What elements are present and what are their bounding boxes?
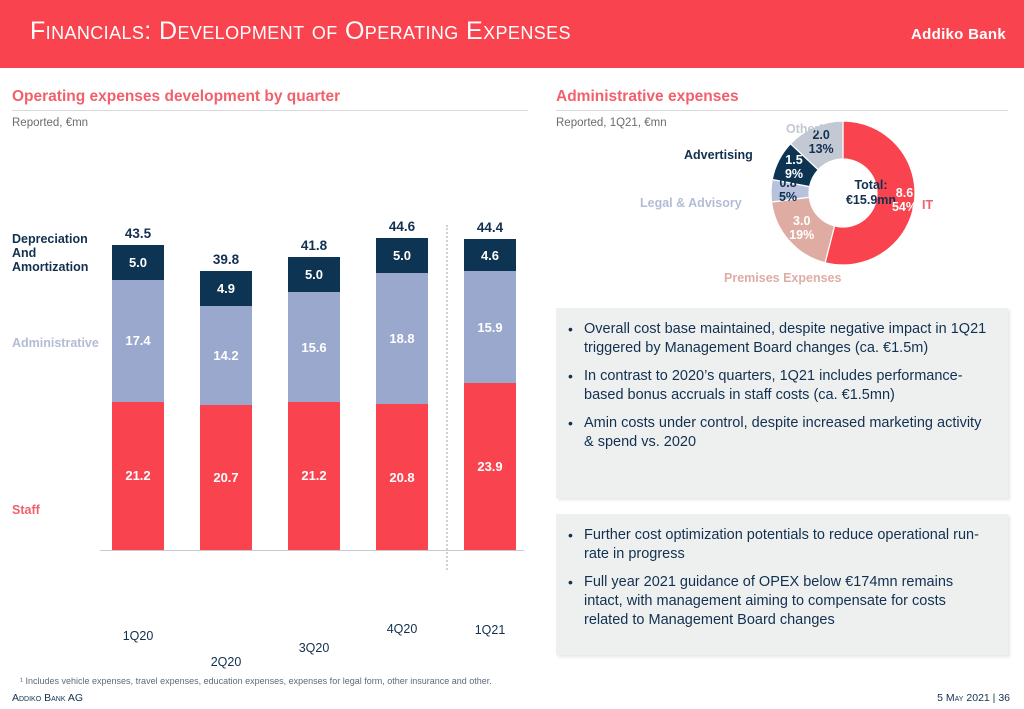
x-axis-label-2q20: 2Q20 xyxy=(200,655,252,669)
donut-slice-percent: 5% xyxy=(762,190,814,204)
list-item: • In contrast to 2020’s quarters, 1Q21 i… xyxy=(568,367,992,405)
left-section-title: Operating expenses development by quarte… xyxy=(12,88,528,110)
donut-value-label: 1.59% xyxy=(768,153,820,181)
bar-segment-depreciation: 5.0 xyxy=(376,238,428,273)
footer-company: Addiko Bank AG xyxy=(12,692,83,704)
list-item: • Amin costs under control, despite incr… xyxy=(568,414,992,452)
bullet-text: Further cost optimization potentials to … xyxy=(584,526,992,564)
donut-category-label-legal-advisory: Legal & Advisory xyxy=(640,196,742,210)
bullet-text: In contrast to 2020’s quarters, 1Q21 inc… xyxy=(584,367,992,405)
right-section-title: Administrative expenses xyxy=(556,88,1008,110)
bar-segment-administrative: 17.4 xyxy=(112,280,164,402)
bullet-icon: • xyxy=(568,573,584,630)
list-item: • Overall cost base maintained, despite … xyxy=(568,320,992,358)
bar-group-1q20: 5.017.421.243.51Q20 xyxy=(112,245,164,550)
bar-total-label: 43.5 xyxy=(112,226,164,241)
donut-slice-percent: 9% xyxy=(768,167,820,181)
bar-segment-staff: 21.2 xyxy=(288,402,340,550)
bar-segment-depreciation: 4.6 xyxy=(464,239,516,271)
bar-segment-staff: 23.9 xyxy=(464,383,516,550)
bar-segment-depreciation: 5.0 xyxy=(112,245,164,280)
bar-total-label: 41.8 xyxy=(288,238,340,253)
bar-total-label: 44.6 xyxy=(376,219,428,234)
x-axis-label-1q20: 1Q20 xyxy=(112,629,164,643)
bullet-text: Full year 2021 guidance of OPEX below €1… xyxy=(584,573,992,630)
slide: Financials: Development of Operating Exp… xyxy=(0,0,1024,709)
left-section-rule xyxy=(12,110,528,111)
bullet-icon: • xyxy=(568,367,584,405)
bullet-icon: • xyxy=(568,414,584,452)
footer-date-page: 5 May 2021 | 36 xyxy=(937,692,1010,704)
donut-chart: Total: €15.9mn 8.654%3.019%0.85%1.59%2.0… xyxy=(700,118,1000,293)
bar-segment-staff: 21.2 xyxy=(112,402,164,550)
x-axis-label-4q20: 4Q20 xyxy=(376,622,428,636)
donut-category-label-other: Other¹ xyxy=(786,122,824,136)
bar-total-label: 39.8 xyxy=(200,252,252,267)
bar-group-2q20: 4.914.220.739.82Q20 xyxy=(200,271,252,550)
bar-segment-administrative: 15.6 xyxy=(288,292,340,401)
legend-staff-label: Staff xyxy=(12,503,40,517)
donut-value-label: 3.019% xyxy=(776,214,828,242)
bar-segment-depreciation: 4.9 xyxy=(200,271,252,305)
bar-segment-administrative: 15.9 xyxy=(464,271,516,382)
donut-category-label-premises-expenses: Premises Expenses xyxy=(724,271,841,285)
bar-total-label: 44.4 xyxy=(464,220,516,235)
bar-group-1q21: 4.615.923.944.41Q21 xyxy=(464,239,516,550)
left-section-subtitle: Reported, €mn xyxy=(12,117,528,129)
commentary-box-2: • Further cost optimization potentials t… xyxy=(556,514,1008,655)
legend-administrative-label: Administrative xyxy=(12,336,99,350)
legend-depreciation-label: Depreciation And Amortization xyxy=(12,232,96,274)
list-item: • Full year 2021 guidance of OPEX below … xyxy=(568,573,992,630)
x-axis-label-3q20: 3Q20 xyxy=(288,641,340,655)
bullet-text: Overall cost base maintained, despite ne… xyxy=(584,320,992,358)
bar-segment-staff: 20.8 xyxy=(376,404,428,550)
left-section-header: Operating expenses development by quarte… xyxy=(12,88,528,129)
bullet-icon: • xyxy=(568,526,584,564)
bar-segment-administrative: 18.8 xyxy=(376,273,428,405)
donut-category-label-it: IT xyxy=(922,198,933,212)
donut-slice-percent: 19% xyxy=(776,228,828,242)
period-divider xyxy=(446,225,448,570)
footnote: ¹ Includes vehicle expenses, travel expe… xyxy=(20,676,492,686)
bullet-icon: • xyxy=(568,320,584,358)
bar-segment-staff: 20.7 xyxy=(200,405,252,550)
donut-slice-value: 3.0 xyxy=(776,214,828,228)
bar-group-4q20: 5.018.820.844.64Q20 xyxy=(376,238,428,550)
footer-divider xyxy=(0,688,1024,689)
right-section-rule xyxy=(556,110,1008,111)
donut-category-label-advertising: Advertising xyxy=(684,148,753,162)
bullet-text: Amin costs under control, despite increa… xyxy=(584,414,992,452)
commentary-box-1: • Overall cost base maintained, despite … xyxy=(556,308,1008,498)
page-title: Financials: Development of Operating Exp… xyxy=(30,17,571,46)
list-item: • Further cost optimization potentials t… xyxy=(568,526,992,564)
slide-header: Financials: Development of Operating Exp… xyxy=(0,0,1024,68)
bar-segment-depreciation: 5.0 xyxy=(288,257,340,292)
stacked-bar-chart: Depreciation And Amortization Administra… xyxy=(12,170,536,630)
x-axis-label-1q21: 1Q21 xyxy=(464,623,516,637)
bar-segment-administrative: 14.2 xyxy=(200,306,252,405)
x-axis-line xyxy=(100,550,524,551)
bar-group-3q20: 5.015.621.241.83Q20 xyxy=(288,257,340,550)
donut-slice-percent: 13% xyxy=(795,142,847,156)
addiko-bank-logo: Addiko Bank xyxy=(911,26,1006,43)
